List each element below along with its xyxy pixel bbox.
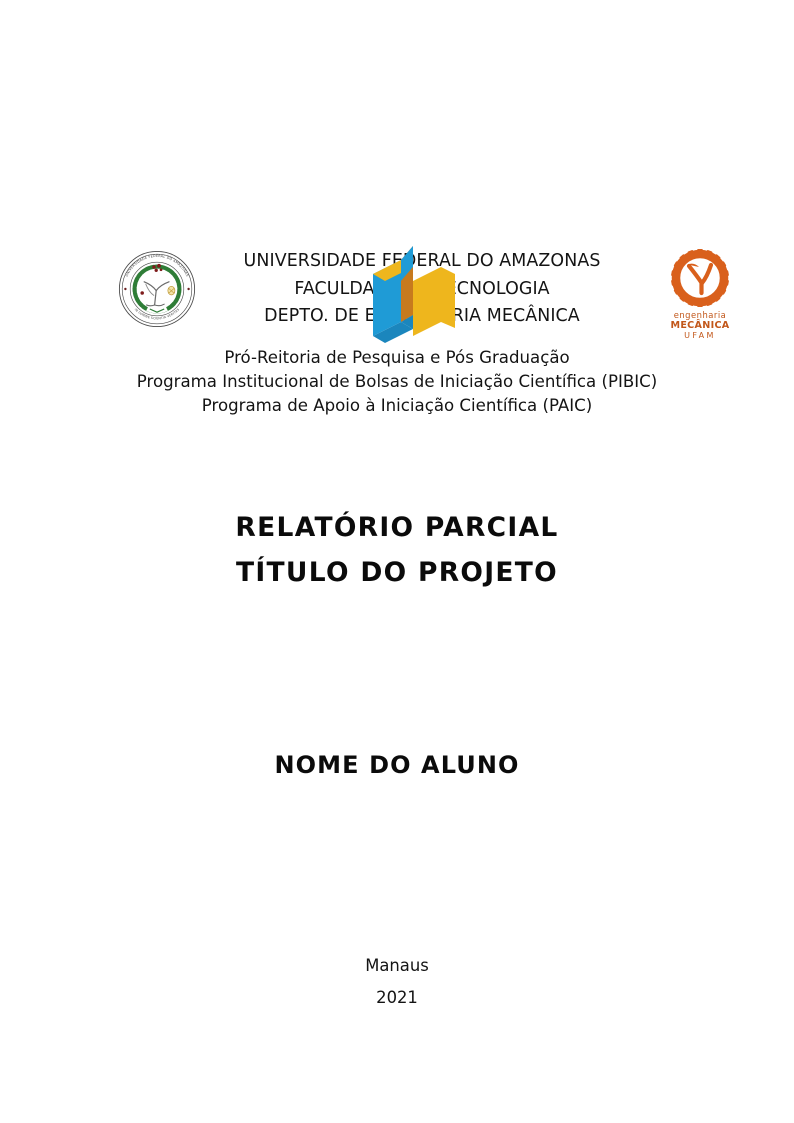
footer-year: 2021 — [0, 982, 794, 1014]
cover-page: UNIVERSIDADE FEDERAL DO AMAZONAS IN LUMI… — [0, 0, 794, 1123]
program-line-1: Pró-Reitoria de Pesquisa e Pós Graduação — [0, 346, 794, 370]
program-line-2: Programa Institucional de Bolsas de Inic… — [0, 370, 794, 394]
program-lines-block: Pró-Reitoria de Pesquisa e Pós Graduação… — [0, 346, 794, 418]
author-block: NOME DO ALUNO — [0, 748, 794, 782]
propesp-book-icon — [367, 234, 461, 338]
engenharia-mecanica-gear-icon: engenharia MECÂNICA UFAM — [657, 248, 743, 340]
footer-block: Manaus 2021 — [0, 950, 794, 1014]
header-block: UNIVERSIDADE FEDERAL DO AMAZONAS IN LUMI… — [0, 122, 794, 214]
gear-logo-line-2: MECÂNICA — [670, 318, 729, 331]
program-line-3: Programa de Apoio à Iniciação Científica… — [0, 394, 794, 418]
author-name: NOME DO ALUNO — [0, 748, 794, 782]
footer-city: Manaus — [0, 950, 794, 982]
report-type-title: RELATÓRIO PARCIAL — [0, 505, 794, 550]
gear-logo-line-3: UFAM — [684, 331, 716, 340]
title-block: RELATÓRIO PARCIAL TÍTULO DO PROJETO — [0, 505, 794, 595]
ufam-seal-icon: UNIVERSIDADE FEDERAL DO AMAZONAS IN LUMI… — [117, 249, 197, 329]
gear-logo-line-1: engenharia — [674, 310, 727, 320]
project-title: TÍTULO DO PROJETO — [0, 550, 794, 595]
